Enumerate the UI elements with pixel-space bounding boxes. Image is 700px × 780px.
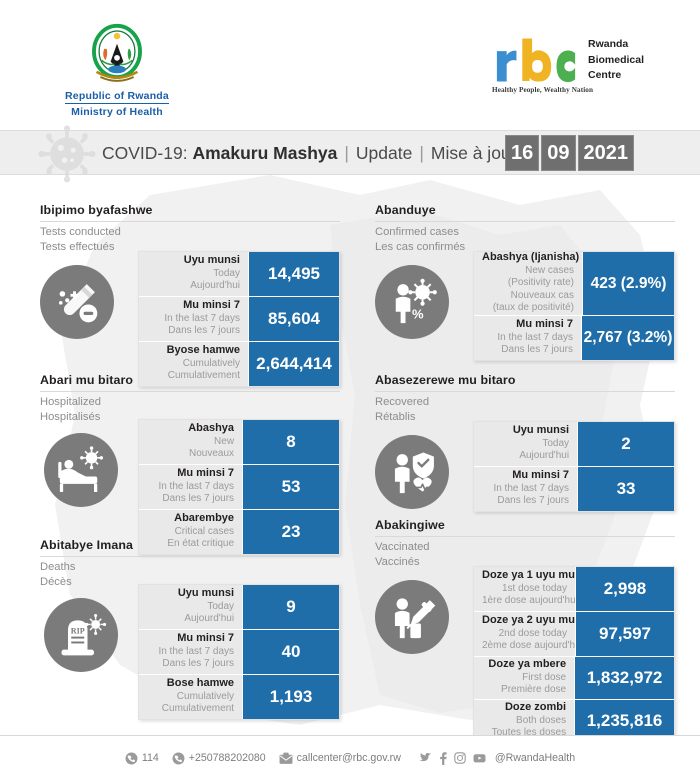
table-row: Uyu munsi Today Aujourd'hui 14,495: [139, 252, 339, 296]
row-label-fr: Dans les 7 jours: [147, 325, 240, 338]
section-tests-header: Ibipimo byafashwe Tests conducted Tests …: [40, 203, 340, 254]
title-divider: [375, 536, 675, 537]
footer-email-text: callcenter@rbc.gov.rw: [297, 752, 401, 764]
footer-phone-short-text: 114: [142, 752, 159, 764]
row-label-en: In the last 7 days: [482, 483, 569, 496]
rwanda-coat-of-arms-icon: [85, 22, 149, 86]
rbc-name-line1: Rwanda: [588, 37, 644, 53]
row-value: 97,597: [575, 612, 674, 656]
footer-phone-full[interactable]: +250788202080: [172, 752, 266, 765]
date-month: 09: [541, 135, 575, 171]
row-label-en: In the last 7 days: [147, 481, 234, 494]
banner-title-ki: Amakuru Mashya: [192, 143, 337, 164]
row-label-en: Both doses: [482, 715, 566, 728]
row-label-fr: 2ème dose aujourd'hui: [482, 640, 567, 653]
footer-phone-full-text: +250788202080: [189, 752, 266, 764]
rbc-logo: Rwanda Biomedical Centre Healthy People,…: [492, 36, 667, 108]
title-divider: [40, 391, 340, 392]
phone-icon: [125, 752, 138, 765]
banner-prefix: COVID-19:: [102, 143, 188, 164]
row-label-en: First dose: [482, 672, 566, 685]
banner-separator-2: |: [419, 143, 424, 164]
row-label-ki: Abarembye: [147, 512, 234, 526]
row-label-fr: Première dose: [482, 684, 566, 697]
deaths-table: Uyu munsi Today Aujourd'hui 9 Mu minsi 7…: [138, 584, 340, 720]
coronavirus-icon: [36, 123, 98, 185]
row-label-fr: Aujourd'hui: [482, 450, 569, 463]
person-virus-percent-icon: %: [375, 265, 449, 339]
row-label: Uyu munsi Today Aujourd'hui: [474, 422, 577, 466]
row-label-ki: Mu minsi 7: [147, 299, 240, 313]
youtube-icon[interactable]: [473, 752, 486, 764]
row-label-en: New: [147, 436, 234, 449]
section-vaccinated-title-en: Vaccinated: [375, 540, 675, 555]
section-deaths-title-en: Deaths: [40, 560, 340, 575]
row-label-ki: Mu minsi 7: [147, 467, 234, 481]
footer-phone-short[interactable]: 114: [125, 752, 159, 765]
row-label-fr: Dans les 7 jours: [147, 658, 234, 671]
row-label-fr: Aujourd'hui: [147, 613, 234, 626]
recovered-table: Uyu munsi Today Aujourd'hui 2 Mu minsi 7…: [473, 421, 675, 512]
rbc-logo-icon: [492, 36, 580, 82]
email-icon: [279, 752, 293, 765]
covid-update-infographic: Republic of Rwanda Ministry of Health Rw…: [0, 0, 700, 780]
row-label: Abashya New Nouveaux: [139, 420, 242, 464]
table-row: Uyu munsi Today Aujourd'hui 2: [474, 422, 674, 466]
row-label: Mu minsi 7 In the last 7 days Dans les 7…: [139, 630, 242, 674]
section-vaccinated-title-ki: Abakingiwe: [375, 518, 675, 532]
title-divider: [375, 391, 675, 392]
hospital-bed-icon: [44, 433, 118, 507]
table-row: Mu minsi 7 In the last 7 days Dans les 7…: [139, 296, 339, 341]
row-value: 423 (2.9%): [582, 252, 674, 315]
row-label-en: 2nd dose today: [482, 628, 567, 641]
section-recovered-title-ki: Abasezerewe mu bitaro: [375, 373, 675, 387]
row-label-fr: 1ère dose aujourd'hui: [482, 595, 567, 608]
row-label-en: Today: [147, 601, 234, 614]
section-confirmed-title-en: Confirmed cases: [375, 225, 675, 240]
row-label: Uyu munsi Today Aujourd'hui: [139, 585, 242, 629]
table-row: Mu minsi 7 In the last 7 days Dans les 7…: [474, 466, 674, 511]
row-value: 2,998: [575, 567, 674, 611]
banner-title: COVID-19: Amakuru Mashya | Update | Mise…: [102, 131, 517, 176]
row-label-ki: Doze ya mbere: [482, 658, 566, 672]
tests-table: Uyu munsi Today Aujourd'hui 14,495 Mu mi…: [138, 251, 340, 387]
instagram-icon[interactable]: [454, 752, 466, 764]
confirmed-table: Abashya (Ijanisha) New cases (Positivity…: [473, 251, 675, 361]
row-label-en2: (Positivity rate): [482, 277, 574, 290]
row-label-fr: Nouveaux: [147, 448, 234, 461]
section-deaths-header: Abitabye Imana Deaths Décès: [40, 538, 340, 589]
hospitalized-table: Abashya New Nouveaux 8 Mu minsi 7 In the…: [138, 419, 340, 555]
section-confirmed-header: Abanduye Confirmed cases Les cas confirm…: [375, 203, 675, 254]
stats-content: Ibipimo byafashwe Tests conducted Tests …: [0, 175, 700, 735]
row-label-en: In the last 7 days: [147, 646, 234, 659]
row-label-ki: Byose hamwe: [147, 344, 240, 358]
tombstone-rip-icon: RIP: [44, 598, 118, 672]
section-hospitalized-header: Abari mu bitaro Hospitalized Hospitalisé…: [40, 373, 340, 424]
row-label-fr2: (taux de positivité): [482, 302, 574, 315]
header-banner: COVID-19: Amakuru Mashya | Update | Mise…: [0, 130, 700, 175]
row-value: 85,604: [248, 297, 339, 341]
row-value: 9: [242, 585, 339, 629]
table-row: Abashya New Nouveaux 8: [139, 420, 339, 464]
footer-contact-bar: 114 +250788202080 callcenter@rbc.gov.rw: [0, 735, 700, 780]
row-value: 33: [577, 467, 674, 511]
vaccinated-table: Doze ya 1 uyu munsi 1st dose today 1ère …: [473, 566, 675, 743]
title-divider: [40, 221, 340, 222]
row-label-ki: Mu minsi 7: [482, 318, 573, 332]
row-label-fr: Dans les 7 jours: [482, 495, 569, 508]
row-label-fr: Nouveaux cas: [482, 290, 574, 303]
row-label-en: Today: [147, 268, 240, 281]
row-label-fr: Aujourd'hui: [147, 280, 240, 293]
row-value: 2: [577, 422, 674, 466]
row-label-ki: Mu minsi 7: [147, 632, 234, 646]
row-label-ki: Doze ya 2 uyu munsi: [482, 614, 567, 628]
banner-title-fr: Mise à jour: [431, 143, 517, 164]
row-label: Mu minsi 7 In the last 7 days Dans les 7…: [474, 467, 577, 511]
title-divider: [375, 221, 675, 222]
row-value: 14,495: [248, 252, 339, 296]
footer-email[interactable]: callcenter@rbc.gov.rw: [279, 752, 401, 765]
row-label-en: Cumulatively: [147, 358, 240, 371]
section-hospitalized-title-ki: Abari mu bitaro: [40, 373, 340, 387]
section-tests-title-ki: Ibipimo byafashwe: [40, 203, 340, 217]
table-row: Uyu munsi Today Aujourd'hui 9: [139, 585, 339, 629]
table-row: Bose hamwe Cumulatively Cumulativement 1…: [139, 674, 339, 719]
row-label-ki: Doze zombi: [482, 701, 566, 715]
row-value: 2,767 (3.2%): [581, 316, 674, 360]
row-label-ki: Doze ya 1 uyu munsi: [482, 569, 567, 583]
rbc-tagline: Healthy People, Wealthy Nation: [492, 86, 593, 94]
section-recovered-header: Abasezerewe mu bitaro Recovered Rétablis: [375, 373, 675, 424]
gov-logo-line1: Republic of Rwanda: [65, 90, 169, 104]
row-label: Abashya (Ijanisha) New cases (Positivity…: [474, 252, 582, 315]
row-label: Doze ya 2 uyu munsi 2nd dose today 2ème …: [474, 612, 575, 656]
person-syringe-icon: [375, 580, 449, 654]
section-tests-title-en: Tests conducted: [40, 225, 340, 240]
test-tube-icon: [40, 265, 114, 339]
person-shield-heart-icon: [375, 435, 449, 509]
row-value: 40: [242, 630, 339, 674]
table-row: Abashya (Ijanisha) New cases (Positivity…: [474, 252, 674, 315]
table-row: Mu minsi 7 In the last 7 days Dans les 7…: [139, 629, 339, 674]
row-label-ki: Bose hamwe: [147, 677, 234, 691]
twitter-icon[interactable]: [418, 752, 432, 764]
logo-row: Republic of Rwanda Ministry of Health Rw…: [0, 0, 700, 125]
row-label-ki: Uyu munsi: [147, 254, 240, 268]
footer-social-icons: @RwandaHealth: [418, 752, 575, 765]
row-label-fr: Dans les 7 jours: [482, 344, 573, 357]
table-row: Mu minsi 7 In the last 7 days Dans les 7…: [474, 315, 674, 360]
svg-text:RIP: RIP: [71, 626, 85, 635]
row-label-en: Today: [482, 438, 569, 451]
date-day: 16: [505, 135, 539, 171]
row-label: Mu minsi 7 In the last 7 days Dans les 7…: [139, 297, 248, 341]
gov-logo-line2: Ministry of Health: [52, 106, 182, 118]
row-label-en: New cases: [482, 265, 574, 278]
row-label: Uyu munsi Today Aujourd'hui: [139, 252, 248, 296]
section-deaths-title-ki: Abitabye Imana: [40, 538, 340, 552]
table-row: Doze ya 1 uyu munsi 1st dose today 1ère …: [474, 567, 674, 611]
row-label-en: 1st dose today: [482, 583, 567, 596]
banner-separator-1: |: [344, 143, 349, 164]
date-year: 2021: [578, 135, 635, 171]
row-label-en: In the last 7 days: [147, 313, 240, 326]
section-recovered-title-en: Recovered: [375, 395, 675, 410]
section-vaccinated-header: Abakingiwe Vaccinated Vaccinés: [375, 518, 675, 569]
row-value: 8: [242, 420, 339, 464]
row-label-ki: Mu minsi 7: [482, 469, 569, 483]
banner-title-en: Update: [356, 143, 412, 164]
row-value: 1,193: [242, 675, 339, 719]
phone-icon: [172, 752, 185, 765]
title-divider: [40, 556, 340, 557]
row-label-ki: Abashya (Ijanisha): [482, 251, 574, 265]
row-label-ki: Uyu munsi: [147, 587, 234, 601]
table-row: Mu minsi 7 In the last 7 days Dans les 7…: [139, 464, 339, 509]
table-row: Doze ya mbere First dose Première dose 1…: [474, 656, 674, 699]
update-date: 16 09 2021: [505, 135, 634, 171]
row-label-en: Cumulatively: [147, 691, 234, 704]
row-label: Mu minsi 7 In the last 7 days Dans les 7…: [139, 465, 242, 509]
rbc-name-line3: Centre: [588, 68, 644, 84]
section-hospitalized-title-en: Hospitalized: [40, 395, 340, 410]
row-value: 53: [242, 465, 339, 509]
row-label: Doze ya mbere First dose Première dose: [474, 657, 574, 699]
row-label-en: Critical cases: [147, 526, 234, 539]
row-label: Mu minsi 7 In the last 7 days Dans les 7…: [474, 316, 581, 360]
row-value: 1,832,972: [574, 657, 674, 699]
svg-text:%: %: [412, 306, 424, 321]
rbc-logo-name: Rwanda Biomedical Centre: [588, 37, 644, 84]
section-confirmed-title-ki: Abanduye: [375, 203, 675, 217]
table-row: Doze ya 2 uyu munsi 2nd dose today 2ème …: [474, 611, 674, 656]
government-logo: Republic of Rwanda Ministry of Health: [52, 22, 182, 118]
footer-social-handle: @RwandaHealth: [495, 752, 575, 764]
row-label-fr: Dans les 7 jours: [147, 493, 234, 506]
row-label-ki: Abashya: [147, 422, 234, 436]
row-label-fr: Cumulativement: [147, 703, 234, 716]
row-label-en: In the last 7 days: [482, 332, 573, 345]
row-label: Bose hamwe Cumulatively Cumulativement: [139, 675, 242, 719]
facebook-icon[interactable]: [439, 752, 447, 765]
rbc-name-line2: Biomedical: [588, 53, 644, 69]
row-label-ki: Uyu munsi: [482, 424, 569, 438]
row-label: Doze ya 1 uyu munsi 1st dose today 1ère …: [474, 567, 575, 611]
